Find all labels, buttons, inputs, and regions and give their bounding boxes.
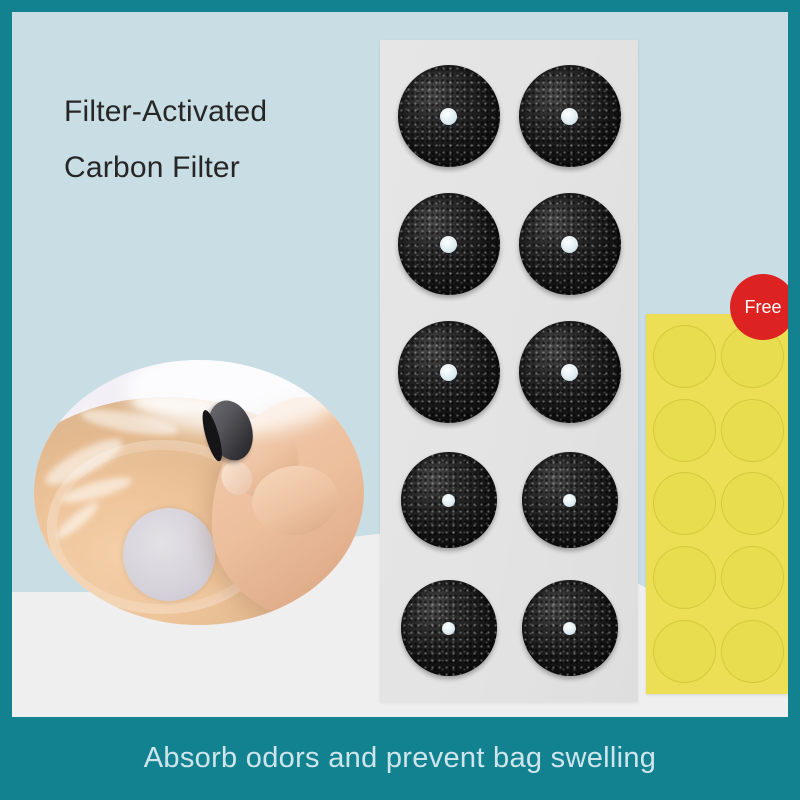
- disc-center-hole: [442, 622, 455, 635]
- yellow-sticker: [721, 546, 784, 609]
- carbon-filter-disc: [519, 65, 621, 167]
- yellow-sticker-sheet: [646, 314, 788, 694]
- yellow-sticker: [653, 472, 716, 535]
- carbon-filter-disc: [398, 65, 500, 167]
- disc-center-hole: [563, 494, 576, 507]
- carbon-filter-disc: [522, 580, 618, 676]
- bag-vent-circle: [123, 508, 215, 601]
- disc-center-hole: [440, 108, 457, 125]
- disc-center-hole: [440, 236, 457, 253]
- yellow-sticker: [653, 620, 716, 683]
- carbon-filter-disc: [401, 580, 497, 676]
- yellow-sticker: [653, 399, 716, 462]
- carbon-disc-grid: [388, 52, 630, 692]
- tagline: Absorb odors and prevent bag swelling: [144, 742, 656, 775]
- product-image: Filter-Activated Carbon Filter: [0, 0, 800, 800]
- yellow-sticker: [721, 620, 784, 683]
- disc-center-hole: [440, 364, 457, 381]
- disc-center-hole: [442, 494, 455, 507]
- disc-center-hole: [563, 622, 576, 635]
- image-canvas: Filter-Activated Carbon Filter: [12, 12, 788, 717]
- page-title: Filter-Activated Carbon Filter: [64, 84, 384, 196]
- application-demo-photo: [34, 360, 364, 625]
- yellow-sticker: [653, 325, 716, 388]
- carbon-filter-disc: [401, 452, 497, 548]
- bottom-banner: Absorb odors and prevent bag swelling: [0, 717, 800, 800]
- headline-line-1: Filter-Activated: [64, 84, 384, 140]
- disc-center-hole: [561, 364, 578, 381]
- disc-center-hole: [561, 108, 578, 125]
- yellow-sticker: [721, 399, 784, 462]
- free-badge-label: Free: [744, 297, 781, 318]
- yellow-sticker: [721, 472, 784, 535]
- carbon-filter-disc: [398, 321, 500, 423]
- carbon-filter-disc: [398, 193, 500, 295]
- headline-line-2: Carbon Filter: [64, 140, 384, 196]
- carbon-filter-sheet: [380, 40, 638, 702]
- yellow-sticker: [653, 546, 716, 609]
- carbon-filter-disc: [522, 452, 618, 548]
- sticker-grid: [650, 320, 786, 688]
- disc-center-hole: [561, 236, 578, 253]
- carbon-filter-disc: [519, 193, 621, 295]
- free-badge: Free: [730, 274, 788, 340]
- carbon-filter-disc: [519, 321, 621, 423]
